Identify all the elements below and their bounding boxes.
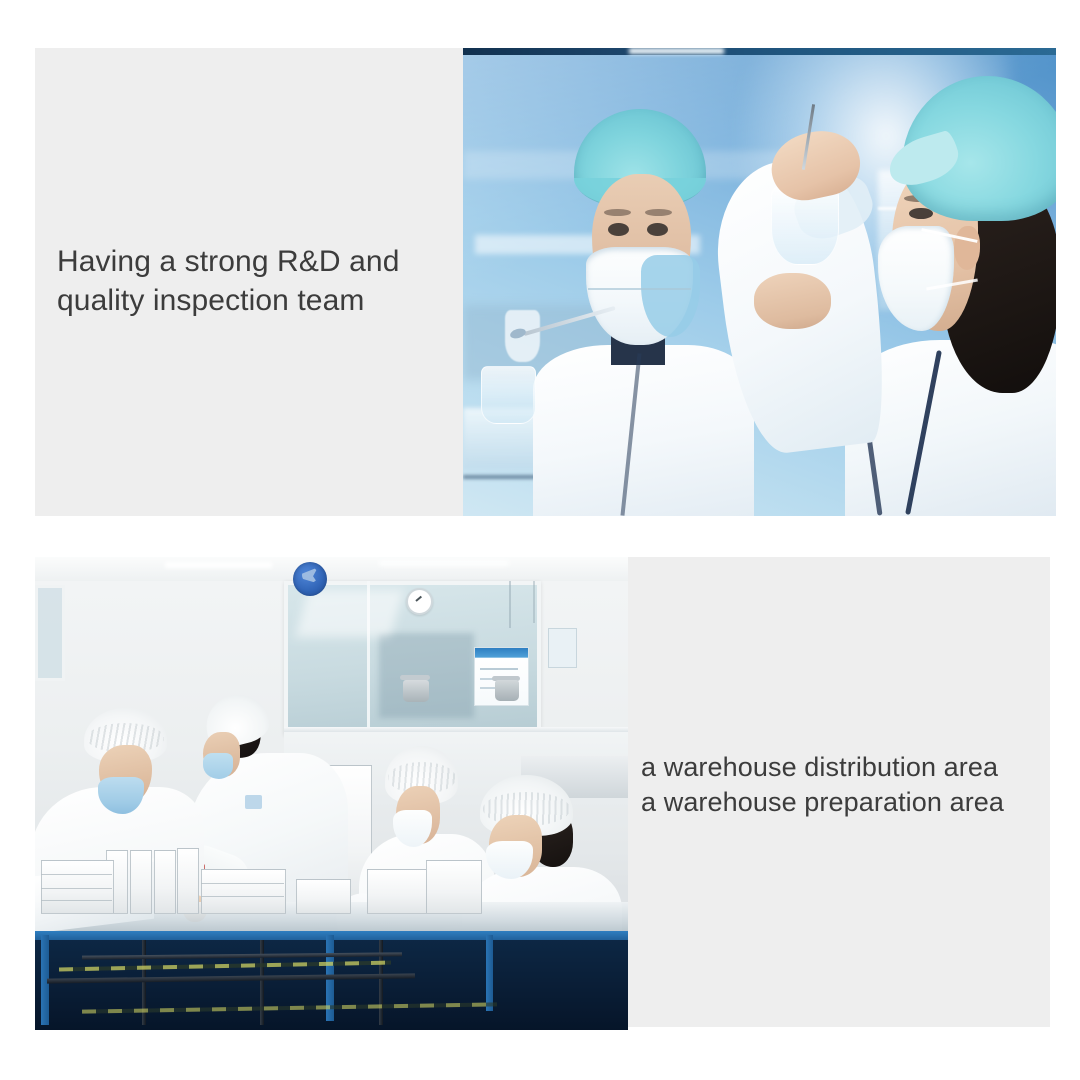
technician-ear [954, 226, 980, 270]
eyebrow-right [645, 209, 672, 216]
carton-flat-stack-left [41, 860, 114, 914]
warehouse-caption-text: a warehouse distribution area a warehous… [641, 750, 1053, 820]
page-root: Having a strong R&D and quality inspecti… [0, 0, 1080, 1080]
carton-row-upright-4 [177, 848, 199, 914]
carton-stack-right-2 [426, 860, 481, 914]
warehouse-ceiling [35, 557, 628, 581]
carton-row-upright-2 [130, 850, 152, 913]
carton-flat-stack-center [201, 869, 286, 914]
carton-open-box [296, 879, 351, 914]
face-mask-pleat [588, 288, 691, 290]
ceiling-pipe-1 [509, 581, 511, 628]
lab-rnd-photo [463, 48, 1056, 516]
poster-line-1 [480, 668, 519, 670]
carton-seam-3 [41, 900, 112, 901]
wall-clock-icon [406, 588, 433, 615]
steel-pot-2 [495, 680, 519, 701]
warehouse-packing-photo [35, 557, 628, 1030]
lab-coat-front [533, 345, 754, 516]
warehouse-caption-panel: a warehouse distribution area a warehous… [628, 557, 1050, 1027]
lab-scene [463, 48, 1056, 516]
carton-stack-right [367, 869, 434, 914]
window-glare [295, 590, 403, 637]
rnd-caption-panel: Having a strong R&D and quality inspecti… [35, 48, 463, 516]
carton-seam-1 [41, 874, 112, 875]
warehouse-scene [35, 557, 628, 1030]
table-leg-right [486, 935, 493, 1011]
section-warehouse: a warehouse distribution area a warehous… [35, 557, 1050, 1030]
worker-badge [245, 795, 262, 808]
lab-ceiling [463, 48, 1056, 55]
left-wall-window [35, 585, 65, 681]
carton-seam-5 [201, 896, 284, 897]
steel-pot-1 [403, 680, 429, 702]
rnd-caption-text: Having a strong R&D and quality inspecti… [57, 242, 457, 320]
lab-technician-front [558, 109, 736, 516]
carton-seam-4 [201, 883, 284, 884]
ceiling-pipe-2 [533, 581, 535, 624]
carton-row-upright-3 [154, 850, 176, 913]
eyebrow-left [604, 209, 631, 216]
carton-seam-2 [41, 888, 112, 889]
beaker-icon [481, 366, 536, 424]
lab-ceiling-light [629, 48, 724, 54]
ceiling-light-right [379, 560, 509, 566]
section-rnd-quality: Having a strong R&D and quality inspecti… [35, 48, 1056, 516]
wall-control-panel [548, 628, 577, 668]
ceiling-light-left [165, 562, 272, 569]
hand-lower [754, 273, 831, 329]
